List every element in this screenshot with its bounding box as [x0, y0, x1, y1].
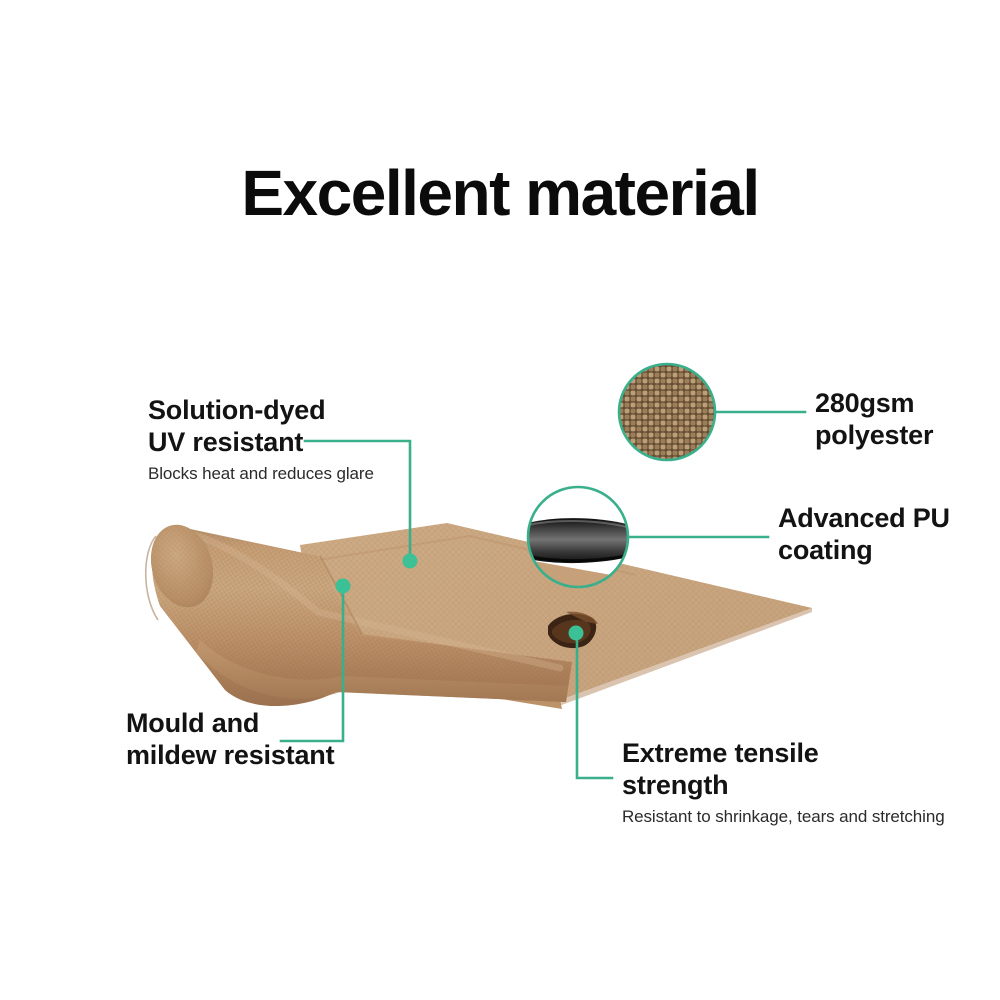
callout-tensile: Extreme tensile strength Resistant to sh…: [622, 738, 992, 828]
callout-tensile-heading: Extreme tensile strength: [622, 738, 992, 802]
callout-solution-dyed-heading: Solution-dyed UV resistant: [148, 395, 478, 459]
callout-pu-coating-heading: Advanced PU coating: [778, 503, 998, 567]
callout-solution-dyed: Solution-dyed UV resistant Blocks heat a…: [148, 395, 478, 485]
callout-gsm-heading: 280gsm polyester: [815, 388, 1000, 452]
dot-tensile: [569, 626, 584, 641]
callout-solution-dyed-subtext: Blocks heat and reduces glare: [148, 463, 478, 485]
callout-mould: Mould and mildew resistant: [126, 708, 456, 772]
callout-tensile-subtext: Resistant to shrinkage, tears and stretc…: [622, 806, 992, 828]
dot-mould: [336, 579, 351, 594]
callout-pu-coating: Advanced PU coating: [778, 503, 998, 567]
infographic-canvas: Excellent material Solution-dyed UV resi…: [0, 0, 1000, 1000]
page-title: Excellent material: [0, 160, 1000, 227]
product-illustration: [0, 0, 1000, 1000]
weave-magnifier: [617, 362, 717, 462]
dot-solution-dyed: [403, 554, 418, 569]
callout-mould-heading: Mould and mildew resistant: [126, 708, 456, 772]
callout-gsm: 280gsm polyester: [815, 388, 1000, 452]
